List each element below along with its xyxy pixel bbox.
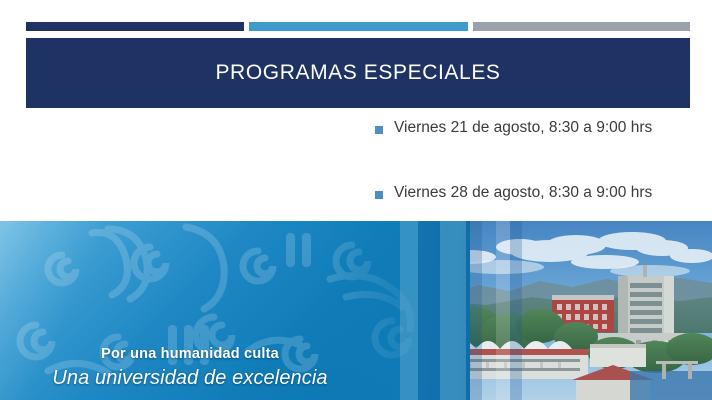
footer-banner: Por una humanidad culta Una universidad … [0, 221, 712, 400]
slogan-line-secondary: Una universidad de excelencia [0, 365, 380, 391]
presentation-slide: PROGRAMAS ESPECIALES Viernes 21 de agost… [0, 0, 712, 400]
list-item: Viernes 21 de agosto, 8:30 a 9:00 hrs [375, 118, 695, 137]
accent-bar-dark [26, 22, 244, 31]
list-item: Viernes 28 de agosto, 8:30 a 9:00 hrs [375, 183, 695, 202]
accent-bar-blue [249, 22, 468, 31]
square-bullet-icon [375, 191, 383, 199]
list-item-label: Viernes 21 de agosto, 8:30 a 9:00 hrs [394, 118, 652, 137]
square-bullet-icon [375, 126, 383, 134]
slogan-block: Por una humanidad culta Una universidad … [0, 345, 380, 391]
accent-bar-gray [473, 22, 690, 31]
accent-bar-group [26, 22, 690, 31]
slogan-line-primary: Por una humanidad culta [0, 345, 380, 365]
list-item-label: Viernes 28 de agosto, 8:30 a 9:00 hrs [394, 183, 652, 202]
banner-light-streaks [400, 221, 712, 400]
page-title: PROGRAMAS ESPECIALES [215, 61, 500, 85]
title-band: PROGRAMAS ESPECIALES [26, 38, 690, 108]
